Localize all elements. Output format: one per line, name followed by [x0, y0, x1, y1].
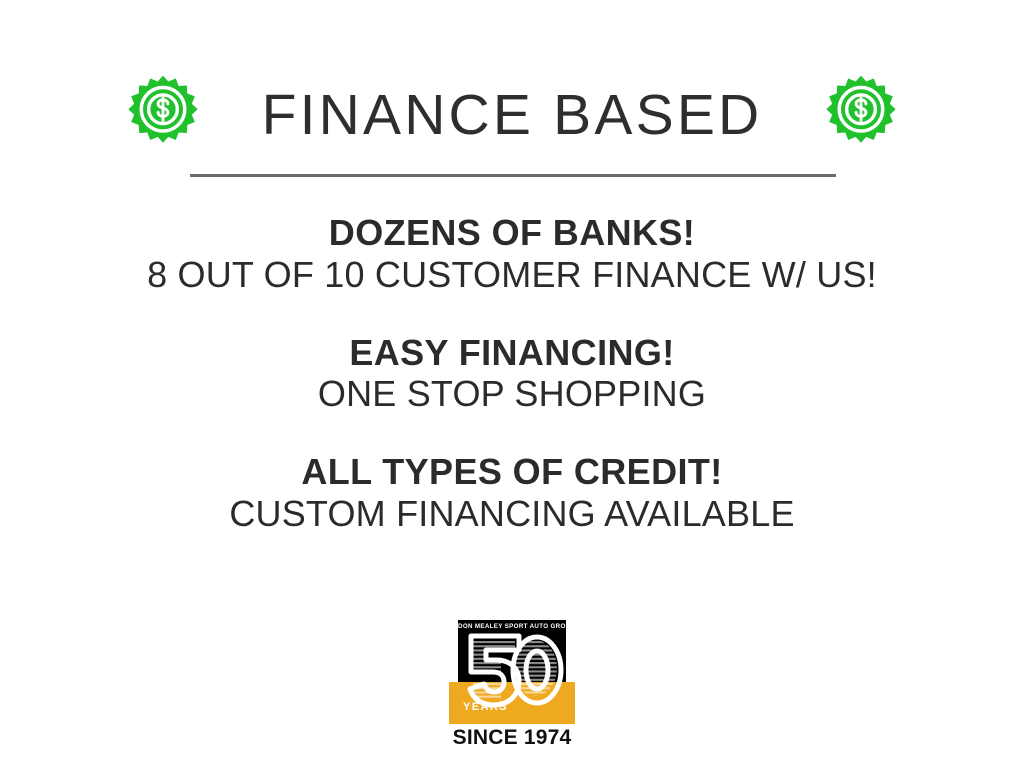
copy-block-banks: DOZENS OF BANKS! 8 OUT OF 10 CUSTOMER FI… — [0, 212, 1024, 296]
logo-years-label: YEARS — [463, 702, 508, 713]
subline-banks: 8 OUT OF 10 CUSTOMER FINANCE W/ US! — [0, 254, 1024, 296]
subline-credit: CUSTOM FINANCING AVAILABLE — [0, 493, 1024, 535]
body-copy: DOZENS OF BANKS! 8 OUT OF 10 CUSTOMER FI… — [0, 212, 1024, 535]
copy-block-easy-financing: EASY FINANCING! ONE STOP SHOPPING — [0, 332, 1024, 416]
headline-credit: ALL TYPES OF CREDIT! — [0, 451, 1024, 493]
dollar-gear-icon-left — [122, 74, 204, 156]
dollar-gear-icon-right — [820, 74, 902, 156]
header-row: FINANCE BASED — [0, 74, 1024, 156]
page-title: FINANCE BASED — [262, 87, 763, 144]
copy-block-credit: ALL TYPES OF CREDIT! CUSTOM FINANCING AV… — [0, 451, 1024, 535]
subline-easy-financing: ONE STOP SHOPPING — [0, 373, 1024, 415]
dealer-logo: DON MEALEY SPORT AUTO GROUP — [449, 620, 575, 749]
slide-canvas: FINANCE BASED DOZENS OF BANKS! 8 OUT OF … — [0, 0, 1024, 768]
title-divider — [190, 174, 836, 177]
headline-easy-financing: EASY FINANCING! — [0, 332, 1024, 374]
header: FINANCE BASED — [0, 74, 1024, 184]
logo-since-text: SINCE 1974 — [449, 726, 575, 749]
logo-mark: DON MEALEY SPORT AUTO GROUP — [449, 620, 575, 724]
headline-banks: DOZENS OF BANKS! — [0, 212, 1024, 254]
